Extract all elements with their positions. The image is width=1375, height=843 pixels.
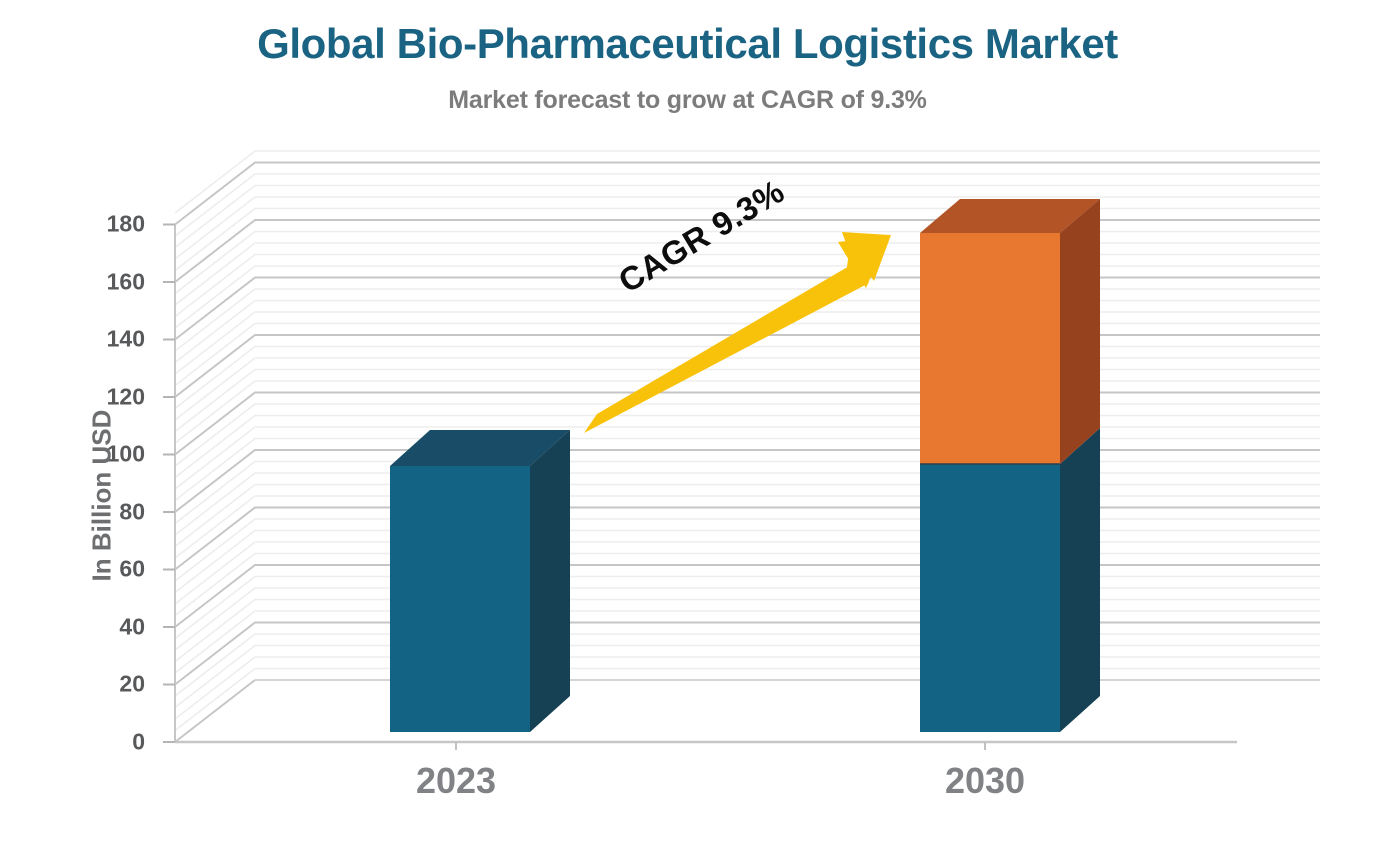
y-tick-label: 20 xyxy=(85,671,145,698)
chart-canvas xyxy=(0,0,1375,843)
bar-2023[interactable] xyxy=(390,430,570,732)
y-axis-ticks xyxy=(163,225,175,743)
y-tick-label: 0 xyxy=(85,729,145,756)
plot-area: 0 20 40 60 80 100 120 140 160 180 In Bil… xyxy=(0,0,1375,843)
axis-lines xyxy=(175,224,1320,742)
gridlines-major xyxy=(175,163,1320,685)
y-axis-title: In Billion USD xyxy=(87,366,118,626)
x-tick-label-2030: 2030 xyxy=(835,760,1135,802)
chart-page: Global Bio-Pharmaceutical Logistics Mark… xyxy=(0,0,1375,843)
x-tick-label-2023: 2023 xyxy=(306,760,606,802)
bar-2030[interactable] xyxy=(920,199,1100,732)
gridlines-minor xyxy=(175,151,1320,731)
y-tick-label: 160 xyxy=(85,269,145,296)
y-tick-label: 180 xyxy=(85,211,145,238)
y-tick-label: 140 xyxy=(85,326,145,353)
